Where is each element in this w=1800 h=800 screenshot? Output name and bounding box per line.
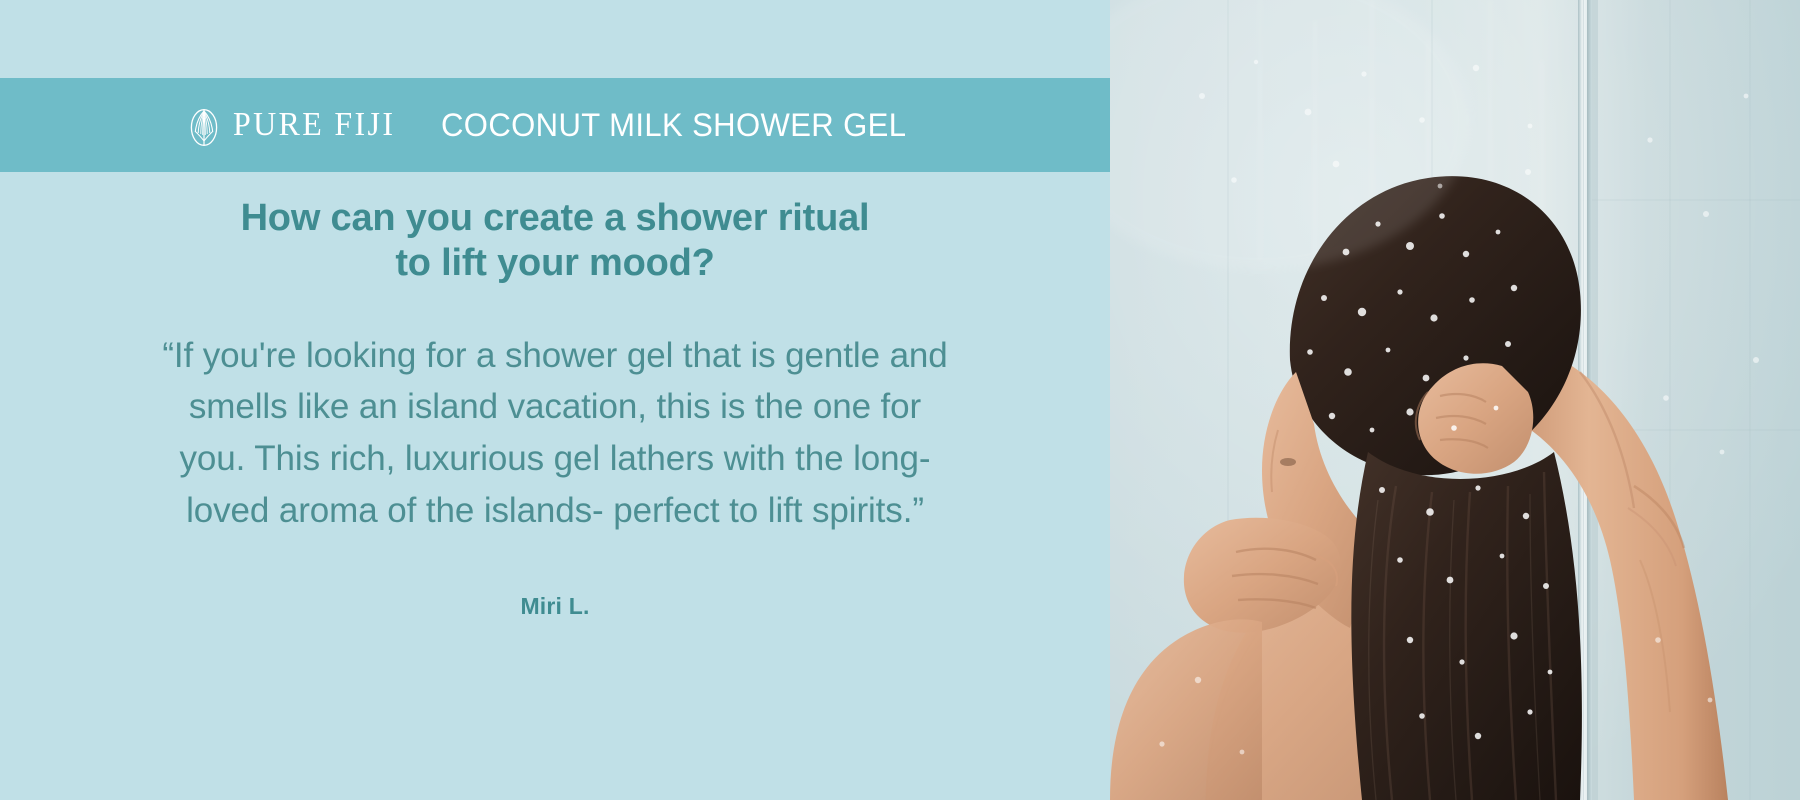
brand-banner: PURE FIJI COCONUT MILK SHOWER GEL [0, 78, 1110, 172]
testimonial-block: How can you create a shower ritual to li… [0, 196, 1110, 620]
testimonial-quote: “If you're looking for a shower gel that… [155, 330, 955, 537]
testimonial-attribution: Miri L. [100, 593, 1010, 620]
brand-name: PURE FIJI [233, 108, 395, 142]
testimonial-headline: How can you create a shower ritual to li… [225, 196, 885, 286]
shower-photo [1110, 0, 1800, 800]
brand-lockup: PURE FIJI COCONUT MILK SHOWER GEL [189, 101, 921, 149]
palm-leaf-logo-icon [189, 101, 219, 149]
content-panel: PURE FIJI COCONUT MILK SHOWER GEL How ca… [0, 0, 1110, 800]
promo-banner-page: PURE FIJI COCONUT MILK SHOWER GEL How ca… [0, 0, 1800, 800]
product-name: COCONUT MILK SHOWER GEL [441, 109, 906, 141]
